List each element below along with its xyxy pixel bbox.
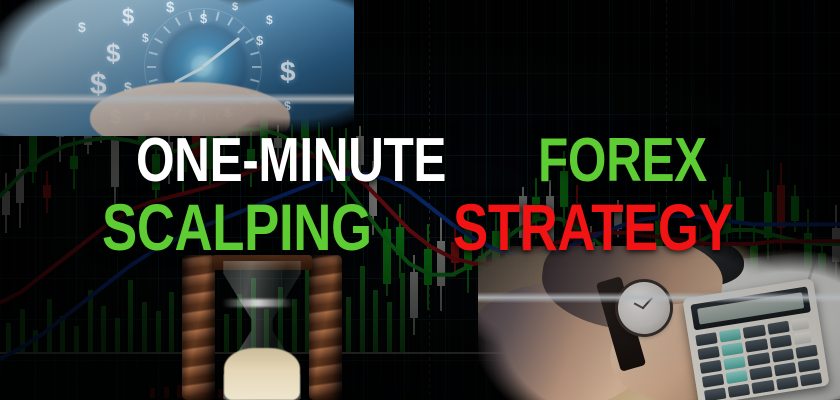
headline-word-scalping: SCALPING bbox=[102, 196, 372, 258]
rope-pillar-right bbox=[309, 255, 342, 400]
hourglass-photo bbox=[182, 255, 342, 400]
headline-word-one-minute: ONE-MINUTE bbox=[136, 132, 446, 190]
forex-banner: $$$$$$$$$$$$$$$$$$ bbox=[0, 0, 840, 400]
headline-line-2: SCALPINGSTRATEGY bbox=[102, 196, 840, 258]
headline-word-strategy: STRATEGY bbox=[453, 196, 733, 258]
headline: ONE-MINUTEFOREX SCALPINGSTRATEGY bbox=[0, 132, 840, 258]
clock-dollars-photo: $$$$$$$$$$$$$$$$$$ bbox=[0, 0, 354, 136]
headline-word-forex: FOREX bbox=[538, 132, 707, 190]
rope-pillar-left bbox=[182, 255, 215, 400]
watch-calculator-photo bbox=[478, 246, 840, 400]
top-left-shade bbox=[0, 0, 354, 136]
hourglass-sand bbox=[224, 348, 300, 400]
headline-line-1: ONE-MINUTEFOREX bbox=[136, 132, 840, 190]
bottom-right-shade bbox=[478, 246, 840, 400]
hourglass-highlight bbox=[222, 299, 294, 307]
